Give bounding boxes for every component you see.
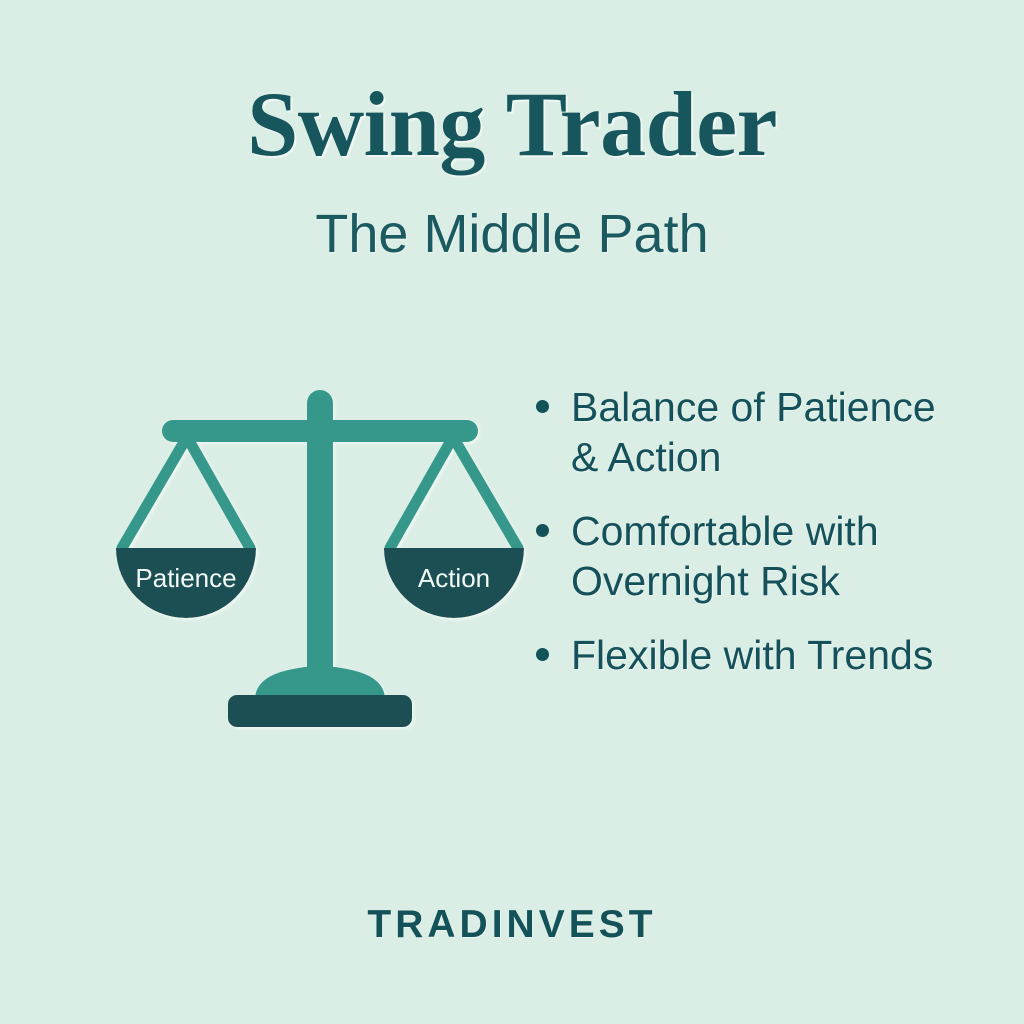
scale-base-plate (228, 695, 412, 727)
balance-scale-icon: Patience Action (100, 370, 540, 740)
bullet-dot-icon (536, 524, 549, 537)
poster-canvas: Swing Trader The Middle Path (0, 0, 1024, 1024)
list-item: Flexible with Trends (536, 630, 956, 680)
left-pan-label: Patience (135, 563, 236, 593)
right-hanger-string-inner (390, 437, 453, 548)
page-title: Swing Trader (0, 78, 1024, 170)
left-hanger-string-outer (122, 437, 187, 548)
left-hanger-string-inner (187, 437, 250, 548)
bullet-dot-icon (536, 648, 549, 661)
balance-scale-illustration: Patience Action (100, 370, 540, 740)
feature-bullet-list: Balance of Patience & Action Comfortable… (536, 382, 956, 704)
bullet-text: Comfortable with Overnight Risk (571, 506, 956, 606)
bullet-text: Balance of Patience & Action (571, 382, 956, 482)
scale-beam (162, 420, 478, 442)
right-hanger-string-outer (453, 437, 518, 548)
list-item: Balance of Patience & Action (536, 382, 956, 482)
list-item: Comfortable with Overnight Risk (536, 506, 956, 606)
bullet-dot-icon (536, 400, 549, 413)
bullet-text: Flexible with Trends (571, 630, 956, 680)
right-pan-label: Action (418, 563, 490, 593)
brand-wordmark: TRADINVEST (0, 903, 1024, 947)
page-subtitle: The Middle Path (0, 207, 1024, 261)
